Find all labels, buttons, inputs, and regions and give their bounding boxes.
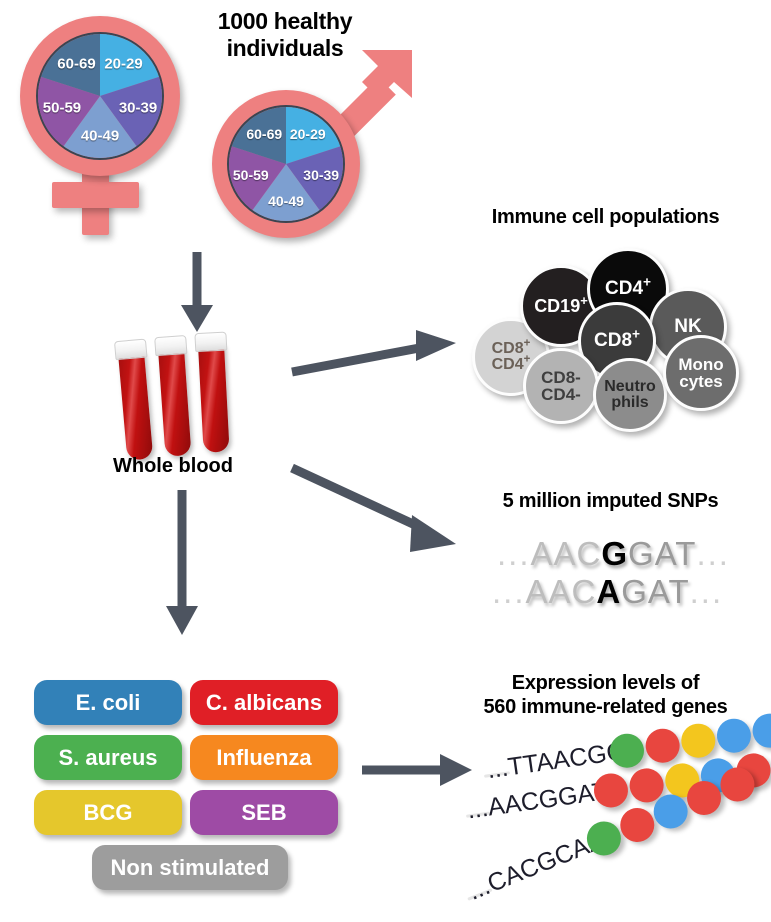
age-slice-label-40-49: 40-49 <box>81 128 119 145</box>
snp-lead: AAC <box>526 573 597 610</box>
stimulus-label: E. coli <box>76 690 141 716</box>
immune-title: Immune cell populations <box>440 206 771 230</box>
cell-neutrophils: Neutrophils <box>593 358 667 432</box>
cell-label: CD4+ <box>605 279 651 298</box>
snp-suffix: ... <box>696 535 730 572</box>
stimulus-label: C. albicans <box>206 690 322 716</box>
snp-sequence-row: ...AACAGAT... <box>492 573 723 611</box>
figure-canvas: 1000 healthyindividuals 20-2930-3940-495… <box>0 0 771 922</box>
snp-prefix: ... <box>492 573 526 610</box>
gene-bead <box>679 722 717 760</box>
age-slice-label-20-29: 20-29 <box>104 55 142 72</box>
snp-title: 5 million imputed SNPs <box>450 490 771 514</box>
stimulus-label: BCG <box>84 800 133 826</box>
age-slice-label-50-59: 50-59 <box>233 167 269 183</box>
gene-strand-group: ...TTAACGG ...AACGGAT ...CACGCAA <box>470 735 771 910</box>
snp-sequence-row: ...AACGGAT... <box>497 535 730 573</box>
tube-cap <box>154 335 187 356</box>
male-symbol: 20-2930-3940-4950-5960-69 <box>198 38 413 248</box>
cell-monocytes: Monocytes <box>663 335 739 411</box>
cell-label: CD19+ <box>534 297 588 315</box>
immune-cell-cluster: CD8+CD4+ CD19+ CD4+ NK CD8+ CD8-CD4- Neu… <box>460 240 771 425</box>
stimuli-panel: E. coli C. albicans S. aureus Influenza … <box>30 680 350 895</box>
cell-label: NK <box>674 317 701 336</box>
snp-lead: AAC <box>531 535 602 572</box>
snp-tail: GAT <box>621 573 689 610</box>
snp-suffix: ... <box>690 573 724 610</box>
snp-tail: GAT <box>628 535 696 572</box>
age-slice-label-20-29: 20-29 <box>290 126 326 142</box>
expression-title: Expression levels of560 immune-related g… <box>440 672 771 719</box>
arrow-cohort-to-blood <box>178 252 216 334</box>
age-slice-label-30-39: 30-39 <box>303 167 339 183</box>
stimulus-label: Influenza <box>216 745 311 771</box>
stimulus-bcg[interactable]: BCG <box>34 790 182 835</box>
female-symbol: 20-2930-3940-4950-5960-69 <box>10 10 190 235</box>
snp-prefix: ... <box>497 535 531 572</box>
arrow-blood-to-snp <box>290 462 462 557</box>
tube-body <box>158 347 191 457</box>
cell-label: Neutrophils <box>604 379 656 412</box>
cell-label: CD8-CD4- <box>541 369 581 404</box>
female-age-pie: 20-2930-3940-4950-5960-69 <box>36 32 164 160</box>
snp-variant: G <box>601 535 628 572</box>
cell-label: Monocytes <box>678 356 723 391</box>
stimulus-ecoli[interactable]: E. coli <box>34 680 182 725</box>
age-slice-label-60-69: 60-69 <box>57 55 95 72</box>
arrow-stimuli-to-expression <box>362 752 474 788</box>
stimulus-seb[interactable]: SEB <box>190 790 338 835</box>
stimulus-label: Non stimulated <box>111 855 270 881</box>
stimulus-saureus[interactable]: S. aureus <box>34 735 182 780</box>
stimulus-non-stimulated[interactable]: Non stimulated <box>92 845 288 890</box>
arrow-blood-to-immune <box>290 330 460 380</box>
gene-bead <box>643 727 681 765</box>
arrow-blood-to-stimuli <box>163 490 201 640</box>
cell-cd8neg-cd4neg: CD8-CD4- <box>523 348 599 424</box>
age-slice-label-60-69: 60-69 <box>246 126 282 142</box>
age-slice-label-50-59: 50-59 <box>43 100 81 117</box>
age-slice-label-40-49: 40-49 <box>268 193 304 209</box>
stimulus-label: S. aureus <box>58 745 157 771</box>
cell-label: CD8+CD4+ <box>492 341 531 374</box>
cell-label: CD8+ <box>594 331 640 350</box>
female-crossbar <box>52 182 139 208</box>
stimulus-label: SEB <box>241 800 286 826</box>
age-slice-label-30-39: 30-39 <box>119 100 157 117</box>
gene-bead <box>715 716 753 754</box>
tube-cap <box>114 339 148 361</box>
male-age-pie: 20-2930-3940-4950-5960-69 <box>227 105 345 223</box>
stimulus-influenza[interactable]: Influenza <box>190 735 338 780</box>
snp-variant: A <box>596 573 621 610</box>
stimulus-calbicans[interactable]: C. albicans <box>190 680 338 725</box>
tube-cap <box>194 331 227 352</box>
strand-sequence: ...AACGGAT <box>465 777 609 825</box>
tube-body <box>198 344 230 453</box>
whole-blood-label: Whole blood <box>78 455 268 478</box>
tube-body <box>118 351 153 461</box>
blood-tubes <box>110 335 260 465</box>
